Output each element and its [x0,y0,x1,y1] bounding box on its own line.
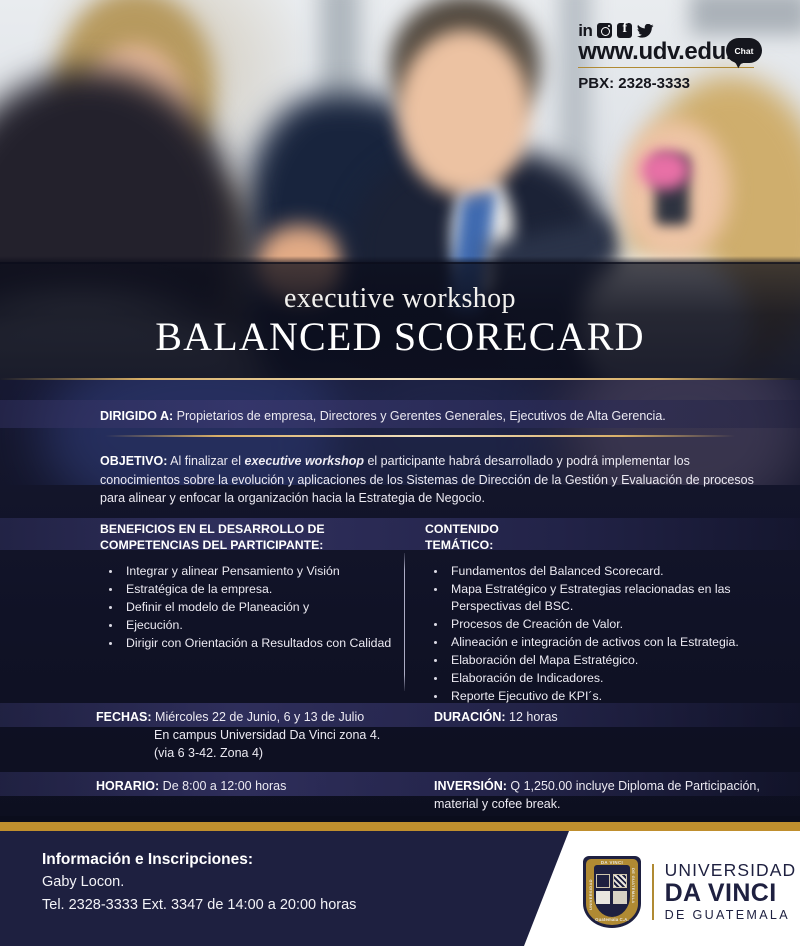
footer-contact-info: Información e Inscripciones: Gaby Locon.… [42,849,356,917]
list-item: Definir el modelo de Planeación y [100,599,400,616]
horario-label: HORARIO: [96,779,159,793]
list-item: Alineación e integración de activos con … [425,634,770,651]
logo-line-universidad: UNIVERSIDAD [665,862,797,880]
list-item: Ejecución. [100,617,400,634]
dirigido-a-label: DIRIGIDO A: [100,409,173,423]
crest-icon: DA VINCI UNIVERSIDAD DE GUATEMALA Guatem… [583,856,641,928]
fechas-line3: (via 6 3-42. Zona 4) [96,744,416,762]
contenido-heading-line2: TEMÁTICO: [425,537,770,553]
inversion-line2: material y cofee break. [434,795,774,813]
list-item: Estratégica de la empresa. [100,581,400,598]
inversion-section: INVERSIÓN: Q 1,250.00 incluye Diploma de… [434,777,774,813]
twitter-icon[interactable] [637,23,654,38]
facebook-icon[interactable] [617,23,632,38]
title-eyebrow: executive workshop [0,283,800,315]
horario-value: De 8:00 a 12:00 horas [159,779,286,793]
photo-person-main-face [398,30,530,195]
logo-line-davinci: DA VINCI [665,881,797,906]
fechas-label: FECHAS: [96,710,152,724]
instagram-icon[interactable] [597,23,612,38]
inversion-line1: Q 1,250.00 incluye Diploma de Participac… [507,779,760,793]
list-item: Mapa Estratégico y Estrategias relaciona… [425,581,770,615]
flyer-poster: in www.udv.edu.gt PBX: 2328-3333 Chat ex… [0,0,800,946]
logo-separator [652,864,654,920]
fechas-line1: Miércoles 22 de Junio, 6 y 13 de Julio [152,710,365,724]
fechas-section: FECHAS: Miércoles 22 de Junio, 6 y 13 de… [96,708,416,762]
dirigido-a-section: DIRIGIDO A: Propietarios de empresa, Dir… [100,408,760,425]
list-item: Dirigir con Orientación a Resultados con… [100,635,400,652]
photo-hand-nail-blur [640,150,690,190]
objetivo-label: OBJETIVO: [100,454,167,468]
crest-bottom-text: Guatemala C.A. [583,917,641,922]
gold-divider-top [0,378,800,380]
horario-section: HORARIO: De 8:00 a 12:00 horas [96,777,426,795]
beneficios-list: Integrar y alinear Pensamiento y Visión … [100,563,400,652]
contenido-list: Fundamentos del Balanced Scorecard. Mapa… [425,563,770,705]
chat-icon[interactable]: Chat [726,38,762,63]
university-logo: DA VINCI UNIVERSIDAD DE GUATEMALA Guatem… [583,856,796,928]
list-item: Elaboración del Mapa Estratégico. [425,652,770,669]
beneficios-heading: BENEFICIOS EN EL DESARROLLO DE COMPETENC… [100,521,400,553]
crest-quadrant-1 [596,874,610,888]
objetivo-emphasis: executive workshop [245,454,365,468]
crest-top-text: DA VINCI [583,860,641,865]
inversion-label: INVERSIÓN: [434,779,507,793]
title-block: executive workshop BALANCED SCORECARD [0,283,800,361]
crest-quadrant-2 [613,874,627,888]
contact-block: in www.udv.edu.gt PBX: 2328-3333 Chat [578,18,754,92]
gold-divider-objetivo [105,435,735,437]
objetivo-text-part1: Al finalizar el [167,454,244,468]
footer-contact-phone: Tel. 2328-3333 Ext. 3347 de 14:00 a 20:0… [42,894,356,917]
duracion-label: DURACIÓN: [434,710,506,724]
footer-title: Información e Inscripciones: [42,849,356,871]
gold-band [0,822,800,831]
beneficios-heading-line1: BENEFICIOS EN EL DESARROLLO DE [100,521,400,537]
crest-right-text: DE GUATEMALA [630,868,636,914]
page-title: BALANCED SCORECARD [0,313,800,361]
social-icons-row: in [578,18,754,38]
crest-quadrant-3 [596,891,610,904]
duracion-value: 12 horas [506,710,558,724]
logo-line-guatemala: DE GUATEMALA [665,909,797,922]
contenido-heading-line1: CONTENIDO [425,521,770,537]
linkedin-icon[interactable]: in [578,23,592,38]
contenido-column: CONTENIDO TEMÁTICO: Fundamentos del Bala… [425,521,770,706]
list-item: Procesos de Creación de Valor. [425,616,770,633]
beneficios-heading-line2: COMPETENCIAS DEL PARTICIPANTE: [100,537,400,553]
objetivo-section: OBJETIVO: Al finalizar el executive work… [100,452,768,508]
fechas-line2: En campus Universidad Da Vinci zona 4. [96,726,416,744]
list-item: Elaboración de Indicadores. [425,670,770,687]
duracion-section: DURACIÓN: 12 horas [434,708,764,726]
footer-contact-name: Gaby Locon. [42,871,356,894]
logo-wordmark: UNIVERSIDAD DA VINCI DE GUATEMALA [665,862,797,921]
crest-left-text: UNIVERSIDAD [588,872,594,910]
list-item: Fundamentos del Balanced Scorecard. [425,563,770,580]
column-divider [404,553,405,691]
list-item: Integrar y alinear Pensamiento y Visión [100,563,400,580]
beneficios-column: BENEFICIOS EN EL DESARROLLO DE COMPETENC… [100,521,400,653]
contenido-heading: CONTENIDO TEMÁTICO: [425,521,770,553]
list-item: Reporte Ejecutivo de KPI´s. [425,688,770,705]
crest-quadrant-4 [613,891,627,904]
dirigido-a-text: Propietarios de empresa, Directores y Ge… [173,409,666,423]
pbx-phone: PBX: 2328-3333 [578,75,754,92]
